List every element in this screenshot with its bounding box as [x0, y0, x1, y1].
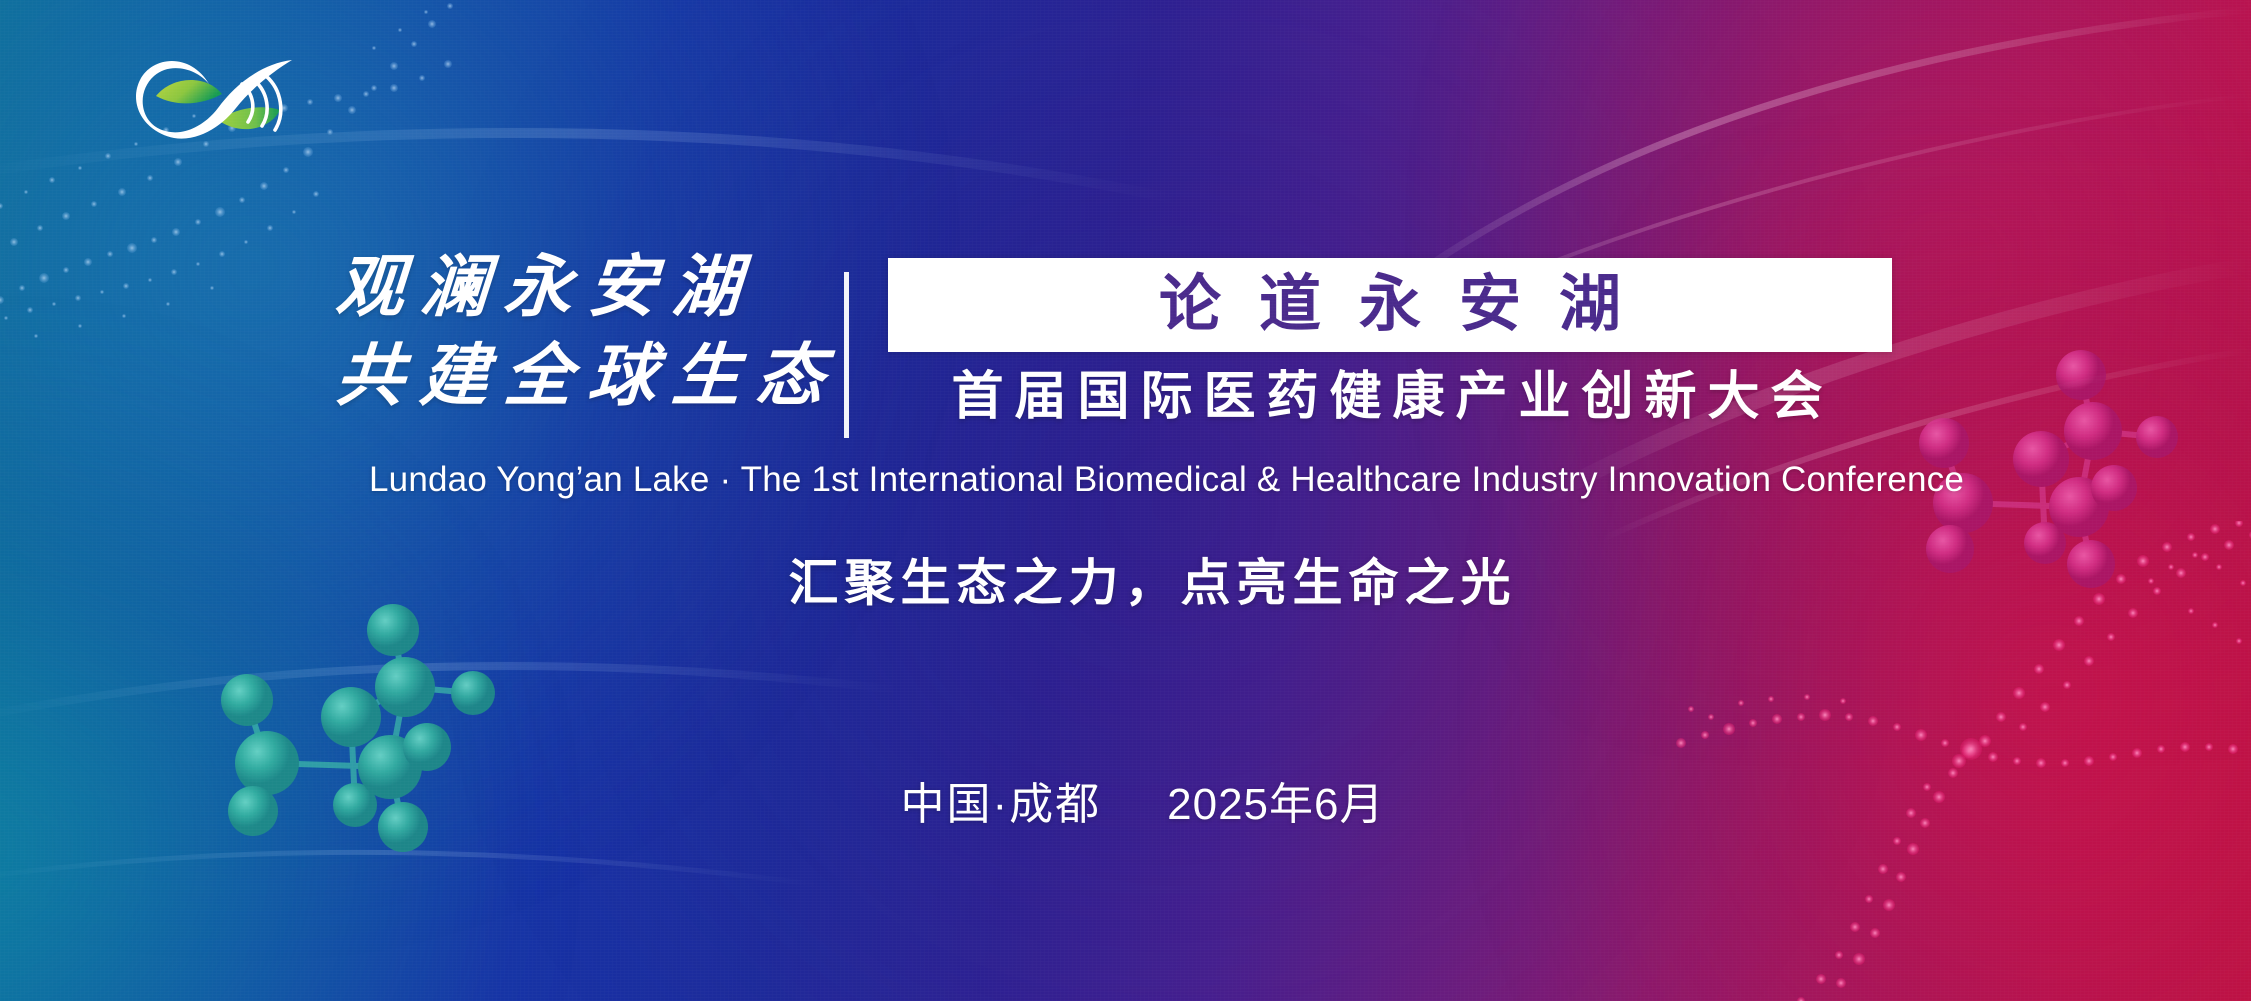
vertical-divider [844, 272, 849, 438]
main-title-box: 论道永安湖 [888, 258, 1892, 352]
yongan-lake-logo[interactable] [114, 38, 319, 158]
conference-slogan: 汇聚生态之力，点亮生命之光 [0, 543, 2251, 615]
footer-location: 中国·成都 [900, 768, 1101, 832]
conference-name-en: Lundao Yong’an Lake · The 1st Internatio… [0, 460, 2251, 500]
conference-name-cn: 首届国际医药健康产业创新大会 [872, 368, 1902, 428]
calligraphy-line-1: 观澜永安湖 [334, 253, 819, 322]
molecule-icon [205, 595, 525, 875]
calligraphy-line-2: 共建全球生态 [334, 342, 819, 411]
main-title-text: 论道永安湖 [1121, 274, 1659, 336]
footer-date: 2025年6月 [1167, 768, 1384, 832]
calligraphy-headline: 观澜永安湖 共建全球生态 [336, 253, 816, 412]
footer-info: 中国·成都 2025年6月 [0, 768, 2251, 832]
conference-banner: 观澜永安湖 共建全球生态 论道永安湖 首届国际医药健康产业创新大会 Lundao… [0, 0, 2251, 1001]
